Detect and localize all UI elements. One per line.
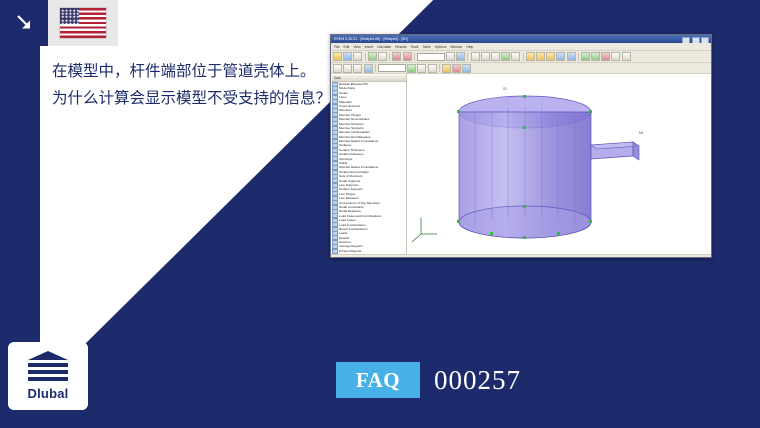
logo-bar-2 [28, 370, 68, 374]
wireframe-icon[interactable] [511, 52, 520, 61]
status-right-text: SNAP GRID CSNAP OSNAP DXF [661, 257, 711, 259]
faq-badge: FAQ [336, 362, 420, 398]
flag-stars: ★★★★★★★★★★★★★★★★★★★★★★★★★★★★ [60, 8, 79, 24]
menu-item-file[interactable]: File [334, 45, 339, 49]
status-bar: Model data ready to calculate. Press F5 … [331, 254, 711, 258]
toolbar-separator [365, 53, 366, 61]
print-icon[interactable] [368, 52, 377, 61]
application-body: Data Beispiel [Beispiel.rf5] Model Data … [331, 74, 711, 254]
view-side-icon[interactable] [353, 64, 362, 73]
project-navigator[interactable]: Data Beispiel [Beispiel.rf5] Model Data … [331, 74, 407, 254]
tree-node-icon [332, 253, 338, 254]
menu-item-help[interactable]: Help [466, 45, 473, 49]
status-left-text: Model data ready to calculate. Press F5 … [333, 257, 399, 259]
dlubal-logo: Dlubal [8, 342, 88, 410]
view-combo[interactable] [378, 64, 406, 72]
window-buttons[interactable] [682, 37, 709, 44]
main-toolbar[interactable] [331, 51, 711, 63]
navigator-header: Data [332, 75, 406, 82]
logo-mark-icon [25, 351, 71, 381]
model-canvas[interactable]: S1 M1 [407, 74, 711, 254]
close-button[interactable] [701, 37, 709, 44]
help-icon[interactable] [622, 52, 631, 61]
menu-item-table[interactable]: Table [422, 45, 430, 49]
view-front-icon[interactable] [333, 64, 342, 73]
deformation-icon[interactable] [452, 64, 461, 73]
section-icon[interactable] [442, 64, 451, 73]
cylinder-model-graphic: S1 M1 [407, 74, 711, 254]
zoom-fit-icon[interactable] [491, 52, 500, 61]
line-icon[interactable] [536, 52, 545, 61]
toolbar-separator [389, 53, 390, 61]
tree-item-label: Guide Objects [339, 253, 359, 254]
tree-item[interactable]: Guide Objects [332, 253, 406, 254]
logo-bar-1 [28, 363, 68, 367]
us-flag-icon: ★★★★★★★★★★★★★★★★★★★★★★★★★★★★ [48, 0, 118, 46]
surface-icon[interactable] [556, 52, 565, 61]
rfem-application-window[interactable]: RFEM 5.26.01 - [Beispiel.rf5] - [Beispie… [330, 34, 712, 258]
zoom-out-icon[interactable] [481, 52, 490, 61]
svg-text:S1: S1 [503, 87, 507, 91]
menu-item-results[interactable]: Results [395, 45, 406, 49]
menu-item-insert[interactable]: Insert [365, 45, 373, 49]
render-icon[interactable] [501, 52, 510, 61]
toolbar-separator [523, 53, 524, 61]
redo-icon[interactable] [403, 52, 412, 61]
load-icon[interactable] [591, 52, 600, 61]
results-icon[interactable] [456, 52, 465, 61]
open-file-icon[interactable] [343, 52, 352, 61]
menu-item-tools[interactable]: Tools [411, 45, 419, 49]
svg-text:M1: M1 [639, 131, 644, 135]
menu-item-view[interactable]: View [353, 45, 360, 49]
maximize-button[interactable] [692, 37, 700, 44]
view-toolbar[interactable] [331, 63, 711, 74]
logo-roof [28, 351, 68, 360]
toolbar-separator [467, 53, 468, 61]
support-icon[interactable] [581, 52, 590, 61]
menu-bar[interactable]: File Edit View Insert Calculate Results … [331, 43, 711, 51]
member-icon[interactable] [546, 52, 555, 61]
menu-item-calculate[interactable]: Calculate [377, 45, 391, 49]
logo-bar-3 [28, 377, 68, 381]
zoom-in-icon[interactable] [471, 52, 480, 61]
print-preview-icon[interactable] [378, 52, 387, 61]
settings-icon[interactable] [611, 52, 620, 61]
node-icon[interactable] [526, 52, 535, 61]
save-icon[interactable] [353, 52, 362, 61]
hinge-icon[interactable] [601, 52, 610, 61]
menu-item-window[interactable]: Window [450, 45, 462, 49]
calculate-icon[interactable] [446, 52, 455, 61]
stress-icon[interactable] [462, 64, 471, 73]
load-case-combo[interactable] [417, 53, 445, 61]
minimize-button[interactable] [682, 37, 690, 44]
flag-graphic: ★★★★★★★★★★★★★★★★★★★★★★★★★★★★ [60, 8, 106, 38]
corner-block: ★★★★★★★★★★★★★★★★★★★★★★★★★★★★ [0, 0, 118, 46]
logo-text: Dlubal [28, 386, 69, 401]
menu-item-options[interactable]: Options [435, 45, 447, 49]
display-properties-icon[interactable] [407, 64, 416, 73]
toolbar-separator [439, 64, 440, 72]
view-isometric-icon[interactable] [364, 64, 373, 73]
toolbar-separator [578, 53, 579, 61]
slide-root: ★★★★★★★★★★★★★★★★★★★★★★★★★★★★ 在模型中，杆件端部位于… [0, 0, 760, 428]
toolbar-separator [414, 53, 415, 61]
toolbar-separator [375, 64, 376, 72]
arrow-down-right-icon [0, 0, 48, 46]
window-title: RFEM 5.26.01 - [Beispiel.rf5] - [Beispie… [334, 37, 408, 41]
snap-toggle-icon[interactable] [428, 64, 437, 73]
undo-icon[interactable] [392, 52, 401, 61]
grid-toggle-icon[interactable] [417, 64, 426, 73]
new-file-icon[interactable] [333, 52, 342, 61]
menu-item-edit[interactable]: Edit [343, 45, 349, 49]
solid-icon[interactable] [567, 52, 576, 61]
view-top-icon[interactable] [343, 64, 352, 73]
faq-number: 000257 [434, 362, 521, 398]
window-titlebar: RFEM 5.26.01 - [Beispiel.rf5] - [Beispie… [331, 35, 711, 43]
